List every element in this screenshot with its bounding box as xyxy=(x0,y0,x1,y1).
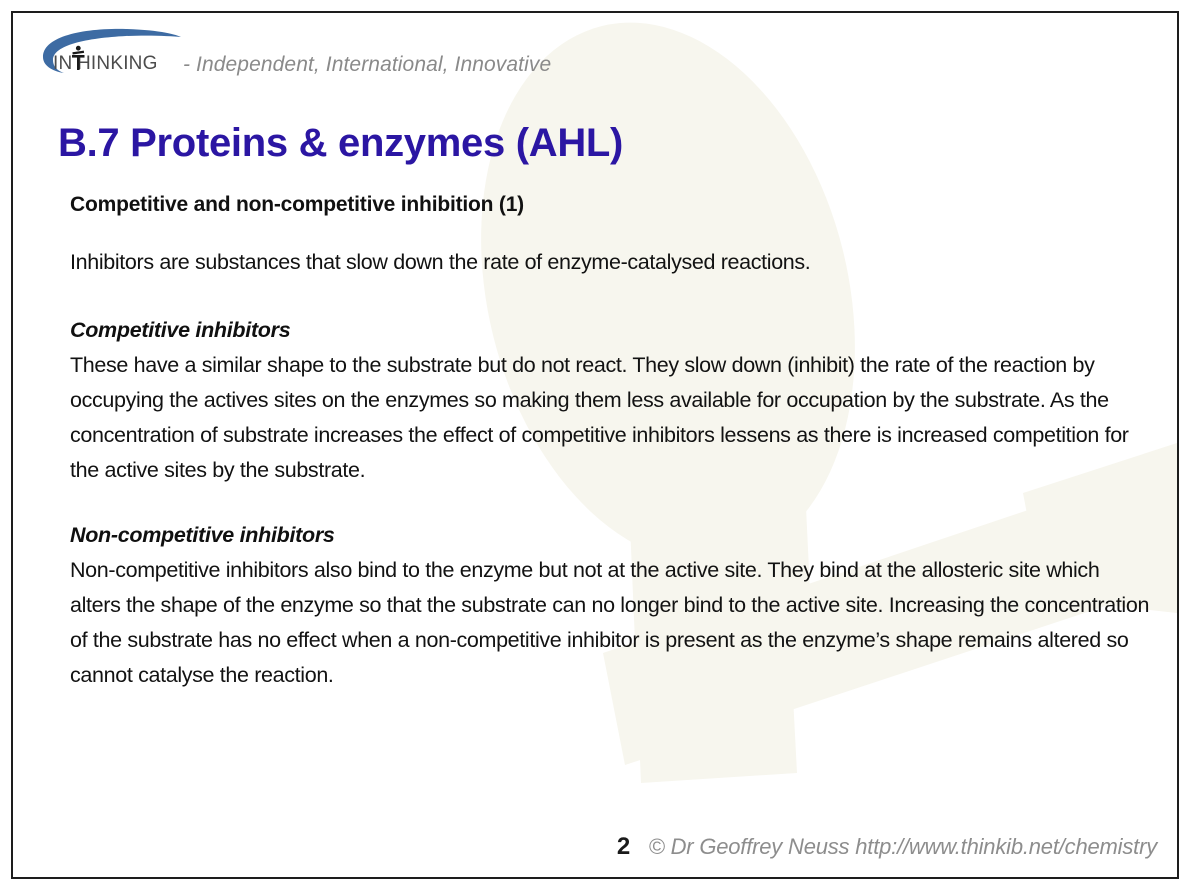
slide-subtitle: Competitive and non-competitive inhibiti… xyxy=(70,193,524,217)
slide-canvas: IN HINKING - Independent, International,… xyxy=(11,11,1179,879)
copyright-notice: © Dr Geoffrey Neuss http://www.thinkib.n… xyxy=(649,834,1157,860)
inthinking-logo[interactable]: IN HINKING xyxy=(31,27,191,75)
section-body-non-competitive: Non-competitive inhibitors also bind to … xyxy=(70,553,1155,693)
page-number: 2 xyxy=(617,833,630,861)
slide-content: B.7 Proteins & enzymes (AHL) Competitive… xyxy=(13,13,1177,877)
slide-header: IN HINKING - Independent, International,… xyxy=(13,13,1177,91)
logo-tagline: - Independent, International, Innovative xyxy=(183,53,551,77)
section-heading-non-competitive: Non-competitive inhibitors xyxy=(70,518,1155,553)
lead-paragraph: Inhibitors are substances that slow down… xyxy=(70,245,1155,280)
logo-wordmark-prefix: IN xyxy=(53,53,72,74)
inthinking-logo-icon: IN HINKING xyxy=(31,27,191,75)
slide-footer: 2 © Dr Geoffrey Neuss http://www.thinkib… xyxy=(13,833,1177,869)
section-heading-competitive: Competitive inhibitors xyxy=(70,313,1155,348)
body-content: Inhibitors are substances that slow down… xyxy=(70,245,1155,693)
logo-wordmark-suffix: HINKING xyxy=(77,53,158,74)
page-title: B.7 Proteins & enzymes (AHL) xyxy=(58,121,623,166)
section-body-competitive: These have a similar shape to the substr… xyxy=(70,348,1155,488)
